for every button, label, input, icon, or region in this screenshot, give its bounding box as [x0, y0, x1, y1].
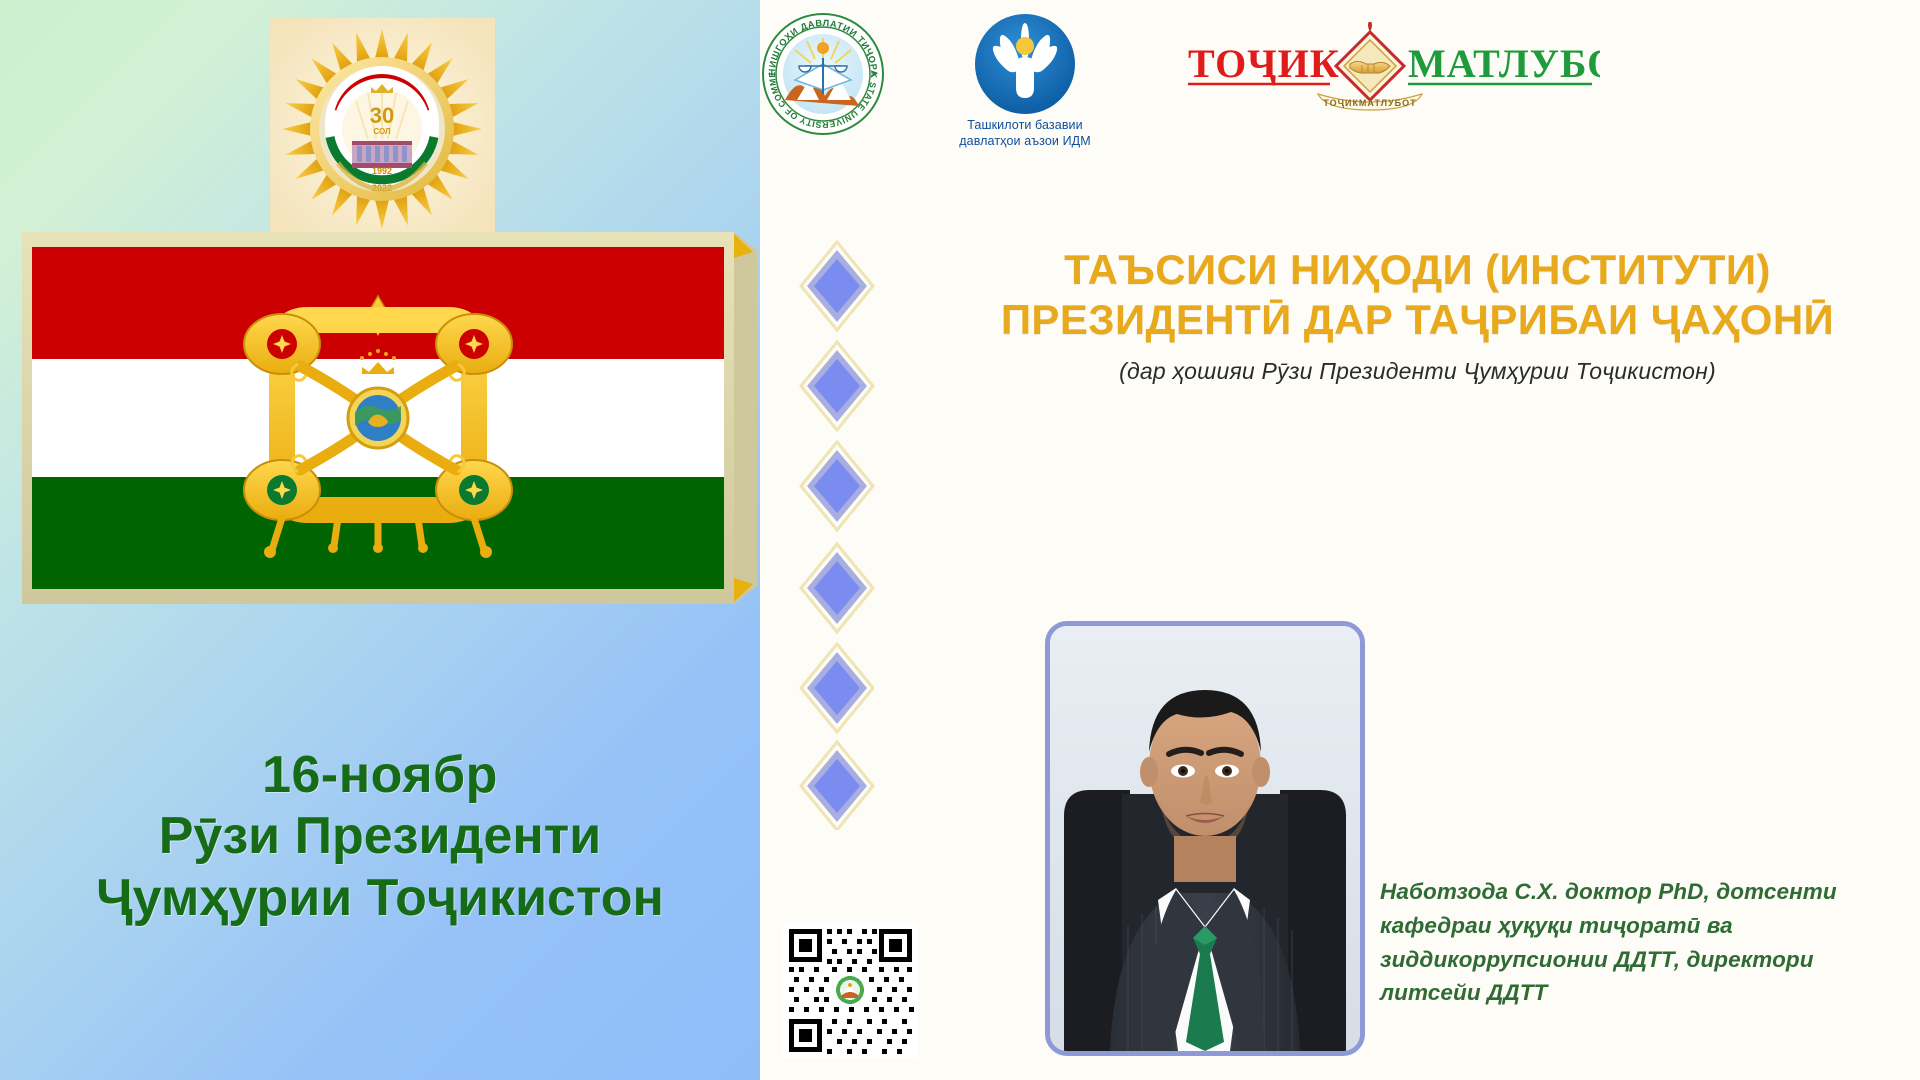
cis-logo: Ташкилоти базавии давлатҳои аъзои ИДМ: [945, 12, 1105, 147]
tojik-matlubot-logo: ТОҶИК МАТЛУБОТ: [1180, 22, 1600, 117]
cis-caption-line-2: давлатҳои аъзои ИДМ: [945, 134, 1105, 150]
svg-text:МАТЛУБОТ: МАТЛУБОТ: [1408, 41, 1600, 86]
left-panel: 30 СОЛ: [0, 0, 760, 1080]
speaker-caption-line-3: зиддикоррупсионии ДДТТ, директори: [1380, 943, 1905, 977]
speaker-caption-line-2: кафедраи ҳуқуқи тиҷоратӣ ва: [1380, 909, 1905, 943]
cis-emblem-icon: [973, 12, 1077, 116]
slide-title-line-1: ТАЪСИСИ НИҲОДИ (ИНСТИТУТИ): [925, 245, 1910, 295]
right-panel: ДОНИШГОҲИ ДАВЛАТИИ ТИҶОРАТИ TAJIK STATE …: [760, 0, 1920, 1080]
flag-of-tajikistan: [22, 232, 757, 612]
left-headline-block: 16-ноябр Рӯзи Президенти Ҷумҳурии Тоҷики…: [0, 745, 760, 929]
svg-text:ТОҶИК: ТОҶИК: [1188, 41, 1340, 86]
presentation-slide: 30 СОЛ: [0, 0, 1920, 1080]
left-headline-line-3: Ҷумҳурии Тоҷикистон: [0, 868, 760, 929]
diamond-ornament-column: [782, 240, 892, 830]
svg-text:СОЛ: СОЛ: [373, 127, 391, 136]
slide-title: ТАЪСИСИ НИҲОДИ (ИНСТИТУТИ) ПРЕЗИДЕНТӢ ДА…: [925, 245, 1910, 344]
speaker-caption-line-1: Наботзода С.Х. доктор PhD, дотсенти: [1380, 875, 1905, 909]
speaker-portrait: [1045, 621, 1365, 1056]
speaker-caption: Наботзода С.Х. доктор PhD, дотсенти кафе…: [1380, 875, 1905, 1010]
slide-subtitle: (дар ҳошияи Рӯзи Президенти Ҷумҳурии Тоҷ…: [925, 358, 1910, 385]
slide-title-line-2: ПРЕЗИДЕНТӢ ДАР ТАҶРИБАИ ҶАҲОНӢ: [925, 295, 1910, 345]
cis-caption-line-1: Ташкилоти базавии: [945, 118, 1105, 134]
svg-text:1992: 1992: [372, 166, 392, 176]
qr-code[interactable]: [783, 923, 918, 1058]
svg-text:ТОҶИКМАТЛУБОТ: ТОҶИКМАТЛУБОТ: [1323, 98, 1416, 108]
cis-logo-caption: Ташкилоти базавии давлатҳои аъзои ИДМ: [945, 118, 1105, 149]
svg-text:30: 30: [370, 103, 394, 128]
university-logo-icon: ДОНИШГОҲИ ДАВЛАТИИ ТИҶОРАТИ TAJIK STATE …: [757, 8, 889, 140]
left-headline-line-2: Рӯзи Президенти: [0, 806, 760, 867]
anniversary-emblem-icon: 30 СОЛ: [270, 18, 495, 240]
speaker-caption-line-4: литсейи ДДТТ: [1380, 976, 1905, 1010]
logo-row: ДОНИШГОҲИ ДАВЛАТИИ ТИҶОРАТИ TAJIK STATE …: [760, 0, 1920, 175]
left-headline-line-1: 16-ноябр: [0, 745, 760, 806]
